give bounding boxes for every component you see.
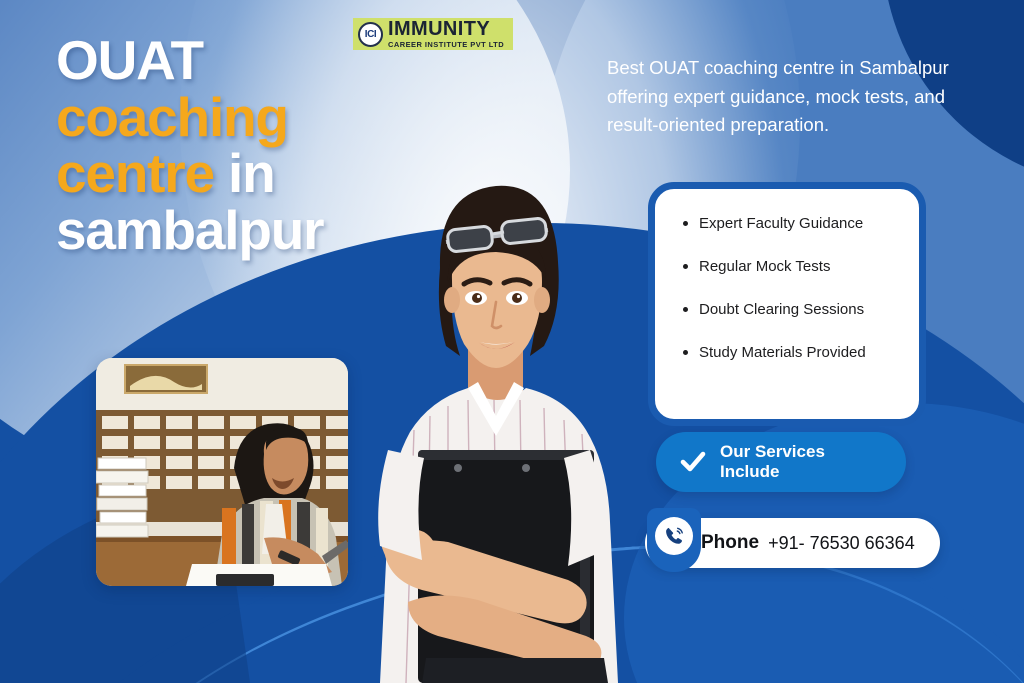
logo-tagline: CAREER INSTITUTE PVT LTD xyxy=(388,41,504,49)
list-item: Study Materials Provided xyxy=(683,344,919,362)
headline-line-4: sambalpur xyxy=(56,202,456,259)
headline-line-3: centre in xyxy=(56,145,456,202)
check-icon xyxy=(680,449,706,475)
brand-logo[interactable]: ICI IMMUNITY CAREER INSTITUTE PVT LTD xyxy=(353,18,513,50)
our-services-badge[interactable]: Our Services Include xyxy=(656,432,906,492)
promo-banner: ICI IMMUNITY CAREER INSTITUTE PVT LTD OU… xyxy=(0,0,1024,683)
list-item: Doubt Clearing Sessions xyxy=(683,301,919,319)
phone-number[interactable]: +91- 76530 66364 xyxy=(768,533,915,554)
headline-word-sambalpur: sambalpur xyxy=(56,199,323,261)
services-card: Expert Faculty Guidance Regular Mock Tes… xyxy=(648,182,926,426)
logo-wordmark: IMMUNITY CAREER INSTITUTE PVT LTD xyxy=(388,19,504,49)
headline-word-ouat: OUAT xyxy=(56,29,203,91)
headline-word-coaching: coaching xyxy=(56,86,288,148)
headline-word-in: in xyxy=(228,142,274,204)
phone-icon xyxy=(655,517,693,555)
list-item: Expert Faculty Guidance xyxy=(683,215,919,233)
intro-paragraph: Best OUAT coaching centre in Sambalpur o… xyxy=(607,54,967,140)
student-photo-illustration xyxy=(96,358,348,586)
services-list: Expert Faculty Guidance Regular Mock Tes… xyxy=(683,215,919,362)
student-photo xyxy=(96,358,348,586)
our-services-label: Our Services Include xyxy=(720,442,870,482)
page-title: OUAT coaching centre in sambalpur xyxy=(56,32,456,259)
logo-name: IMMUNITY xyxy=(388,19,504,39)
phone-label: Phone xyxy=(701,532,759,554)
logo-monogram-icon: ICI xyxy=(358,22,383,47)
list-item: Regular Mock Tests xyxy=(683,258,919,276)
phone-icon-badge xyxy=(647,508,701,572)
headline-line-2: coaching xyxy=(56,89,456,146)
headline-word-centre: centre xyxy=(56,142,214,204)
